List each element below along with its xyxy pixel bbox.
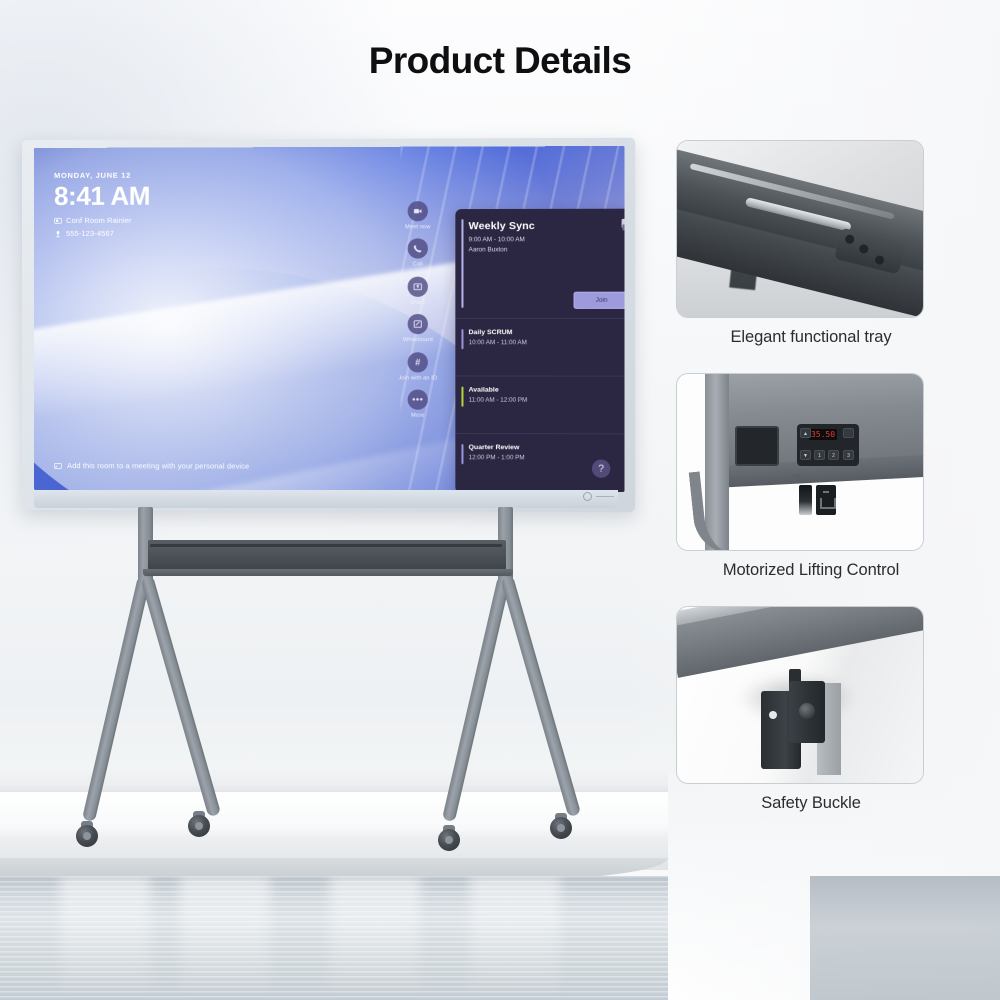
featured-meeting-time: 9:00 AM - 10:00 AM — [469, 236, 625, 243]
rail-item-call[interactable]: Call — [394, 239, 441, 269]
stand-leg — [140, 575, 221, 817]
row-accent-bar — [461, 329, 463, 349]
featured-accent-bar — [461, 219, 463, 308]
caster-wheel — [76, 821, 102, 847]
agenda-panel[interactable]: Weekly Sync 9:00 AM - 10:00 AM Aaron Bux… — [455, 209, 624, 492]
action-rail[interactable]: Meet now Call Share Whiteboard — [394, 201, 441, 419]
interactive-display[interactable]: MONDAY, JUNE 12 8:41 AM Conf Room Rainie… — [22, 140, 628, 510]
lift-down-key: ▼ — [800, 450, 811, 460]
detail-caption: Safety Buckle — [676, 794, 946, 813]
tray-photo — [676, 140, 924, 318]
tray-slot — [150, 544, 502, 547]
rail-label: Call — [413, 262, 423, 268]
caster-wheel — [550, 813, 576, 839]
display-icon — [54, 216, 62, 224]
more-ellipsis-icon[interactable]: ••• — [408, 390, 428, 410]
agenda-row[interactable]: Daily SCRUM 10:00 AM - 11:00 AM › — [455, 318, 624, 376]
detail-card-tray: Elegant functional tray — [676, 140, 976, 347]
safety-buckle-photo — [676, 606, 924, 784]
add-room-hint[interactable]: Add this room to a meeting with your per… — [54, 461, 249, 471]
phone-number: 555-123-4567 — [66, 229, 114, 238]
detail-caption: Elegant functional tray — [676, 328, 946, 347]
room-name-row: Conf Room Rainier — [54, 216, 150, 225]
add-room-hint-label: Add this room to a meeting with your per… — [67, 461, 249, 471]
detail-cards-column: Elegant functional tray 35.50 ▲ ▼ 1 2 3 — [676, 140, 976, 839]
caster-wheel — [438, 825, 464, 851]
hash-icon[interactable]: # — [408, 352, 428, 372]
agenda-row-title: Quarter Review — [469, 444, 625, 451]
lift-set-key — [843, 428, 854, 438]
join-button[interactable]: Join — [574, 292, 625, 309]
featured-meeting-card[interactable]: Weekly Sync 9:00 AM - 10:00 AM Aaron Bux… — [455, 209, 624, 318]
featured-meeting-organizer: Aaron Buxton — [469, 246, 625, 253]
phone-icon — [54, 229, 62, 237]
row-accent-bar — [461, 387, 463, 407]
cast-icon — [54, 462, 62, 470]
clock-block: MONDAY, JUNE 12 8:41 AM Conf Room Rainie… — [54, 171, 150, 238]
rail-label: More — [411, 413, 424, 419]
rail-item-whiteboard[interactable]: Whiteboard — [394, 314, 441, 344]
date-label: MONDAY, JUNE 12 — [54, 171, 150, 180]
video-camera-icon[interactable] — [408, 201, 428, 221]
caster-wheel — [188, 811, 214, 837]
featured-meeting-title: Weekly Sync — [469, 220, 625, 232]
agenda-row-title: Available — [469, 387, 625, 394]
agenda-row-time: 10:00 AM - 11:00 AM — [469, 339, 625, 346]
mobile-stand — [0, 495, 668, 895]
lift-preset-3-key: 3 — [843, 450, 854, 460]
lift-control-display: 35.50 — [809, 429, 837, 440]
whiteboard-icon[interactable] — [408, 314, 428, 334]
rail-item-share[interactable]: Share — [394, 277, 441, 307]
display-screen[interactable]: MONDAY, JUNE 12 8:41 AM Conf Room Rainie… — [34, 146, 625, 492]
detail-card-safety-buckle: Safety Buckle — [676, 606, 976, 813]
detail-card-lifting-control: 35.50 ▲ ▼ 1 2 3 Motorized Lifting Contro… — [676, 373, 976, 580]
phone-handset-icon[interactable] — [408, 239, 428, 259]
room-name: Conf Room Rainier — [66, 216, 132, 225]
lift-up-key: ▲ — [800, 428, 811, 438]
tray-lip — [143, 569, 513, 576]
share-screen-icon[interactable] — [408, 277, 428, 297]
row-accent-bar — [461, 444, 463, 464]
page-title: Product Details — [0, 40, 1000, 82]
help-circle-icon[interactable]: ? — [592, 460, 610, 478]
rail-label: Share — [410, 300, 426, 306]
detail-caption: Motorized Lifting Control — [676, 561, 946, 580]
teams-app-icon — [622, 219, 625, 228]
help-glyph: ? — [598, 463, 604, 474]
rail-label: Join with an ID — [398, 375, 437, 382]
rail-label: Meet now — [405, 224, 430, 231]
agenda-row-time: 11:00 AM - 12:00 PM — [469, 397, 625, 404]
rail-item-join-with-id[interactable]: # Join with an ID — [394, 352, 441, 382]
water-pool-right — [810, 876, 1000, 1000]
clock-time: 8:41 AM — [54, 183, 150, 209]
lift-preset-2-key: 2 — [828, 450, 839, 460]
rail-item-meet-now[interactable]: Meet now — [394, 201, 441, 231]
rail-item-more[interactable]: ••• More — [394, 390, 441, 420]
rail-label: Whiteboard — [403, 337, 433, 343]
lifting-control-photo: 35.50 ▲ ▼ 1 2 3 — [676, 373, 924, 551]
stand-leg — [82, 576, 151, 823]
stand-leg — [500, 575, 581, 817]
lift-control-keypad: 35.50 ▲ ▼ 1 2 3 — [797, 424, 859, 466]
agenda-row[interactable]: Available 11:00 AM - 12:00 PM — [455, 375, 624, 433]
phone-row: 555-123-4567 — [54, 229, 150, 238]
lift-preset-1-key: 1 — [814, 450, 825, 460]
agenda-row-title: Daily SCRUM — [469, 329, 625, 336]
stand-leg — [442, 576, 511, 823]
